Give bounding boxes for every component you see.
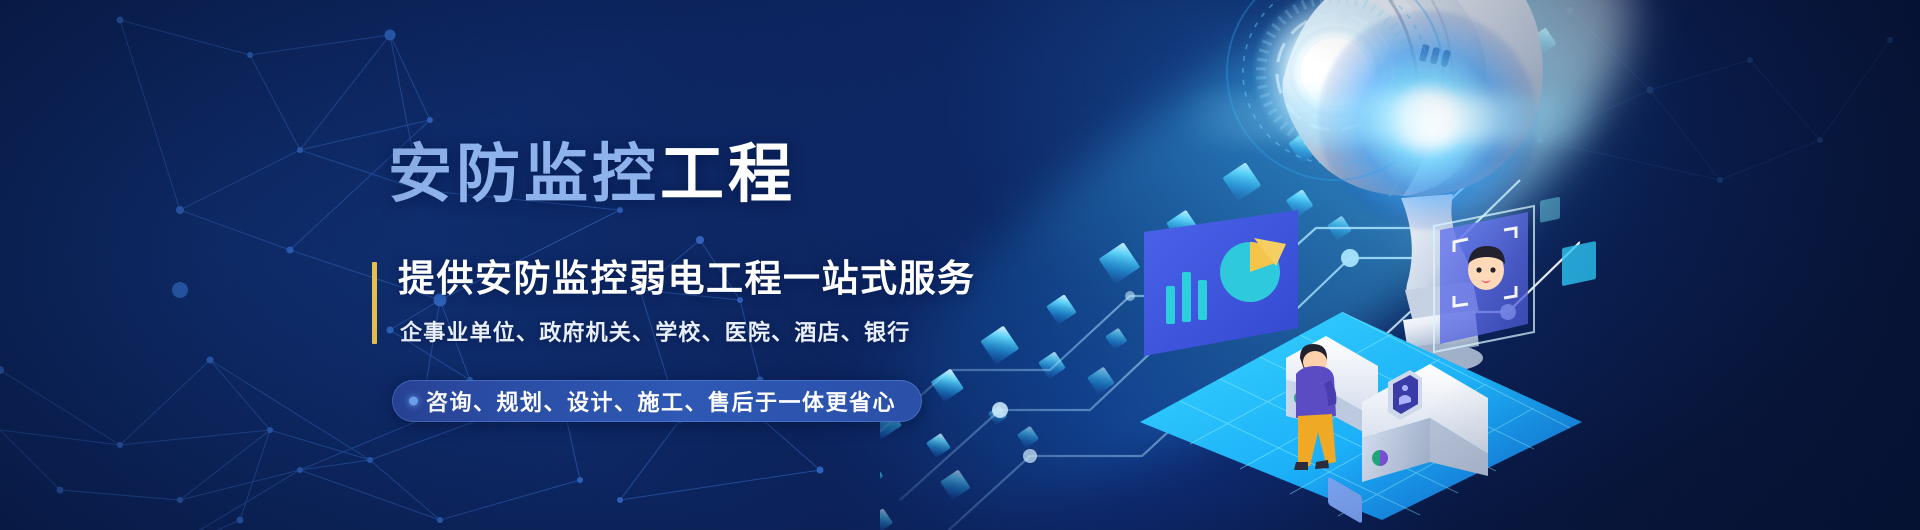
analytics-panel	[1144, 210, 1298, 356]
title-highlight: 安防监控	[388, 138, 660, 210]
page-title: 安防监控工程	[388, 142, 796, 206]
isometric-security-scene	[1130, 190, 1650, 530]
hero-banner: 安防监控工程 提供安防监控弱电工程一站式服务 企事业单位、政府机关、学校、医院、…	[0, 0, 1920, 530]
banner-subtitle: 提供安防监控弱电工程一站式服务	[398, 258, 976, 301]
title-plain: 工程	[660, 138, 796, 210]
accent-bar-gold	[372, 262, 377, 344]
service-tag-pill[interactable]: 咨询、规划、设计、施工、售后于一体更省心	[392, 380, 922, 422]
dot-icon	[409, 397, 418, 406]
service-tag-label: 咨询、规划、设计、施工、售后于一体更省心	[426, 385, 896, 417]
banner-subtitle-secondary: 企事业单位、政府机关、学校、医院、酒店、银行	[400, 315, 910, 347]
face-recognition-panel	[1434, 206, 1534, 352]
banner-copy: 安防监控工程 提供安防监控弱电工程一站式服务 企事业单位、政府机关、学校、医院、…	[0, 0, 1000, 530]
tile-mint-small	[1540, 197, 1560, 223]
tile-cyan-right	[1562, 241, 1596, 286]
